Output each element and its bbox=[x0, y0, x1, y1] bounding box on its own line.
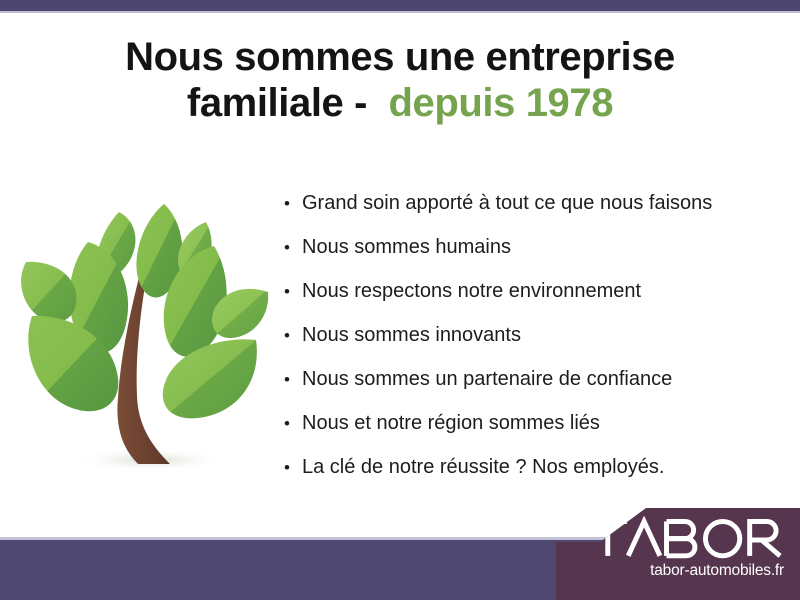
bullet-dot-icon: • bbox=[284, 327, 302, 344]
list-item: • Nous sommes un partenaire de confiance bbox=[284, 368, 784, 412]
bullet-list: • Grand soin apporté à tout ce que nous … bbox=[284, 192, 784, 500]
title-dash-glyph: - bbox=[354, 81, 367, 125]
bullet-dot-icon: • bbox=[284, 239, 302, 256]
title-line-2-lead: familiale bbox=[187, 81, 343, 125]
bullet-dot-icon: • bbox=[284, 195, 302, 212]
tree-leaves bbox=[21, 204, 268, 418]
bullet-text: Nous sommes humains bbox=[302, 236, 511, 259]
bullet-text: Nous sommes innovants bbox=[302, 324, 521, 347]
list-item: • Nous respectons notre environnement bbox=[284, 280, 784, 324]
title-line-1: Nous sommes une entreprise bbox=[0, 34, 800, 80]
logo-tagline: tabor-automobiles.fr bbox=[586, 562, 784, 580]
bullet-text: Nous sommes un partenaire de confiance bbox=[302, 368, 672, 391]
bullet-dot-icon: • bbox=[284, 283, 302, 300]
list-item: • La clé de notre réussite ? Nos employé… bbox=[284, 456, 784, 500]
list-item: • Grand soin apporté à tout ce que nous … bbox=[284, 192, 784, 236]
title-line-2: familiale - depuis 1978 bbox=[0, 80, 800, 126]
bullet-text: Nous respectons notre environnement bbox=[302, 280, 641, 303]
list-item: • Nous et notre région sommes liés bbox=[284, 412, 784, 456]
bullet-dot-icon: • bbox=[284, 415, 302, 432]
list-item: • Nous sommes innovants bbox=[284, 324, 784, 368]
slide-canvas: Nous sommes une entreprise familiale - d… bbox=[0, 0, 800, 600]
bullet-dot-icon: • bbox=[284, 371, 302, 388]
title-dash bbox=[343, 81, 354, 125]
top-accent-hairline bbox=[0, 11, 800, 13]
logo-inner: tabor-automobiles.fr bbox=[586, 516, 784, 580]
tabor-logo-wordmark bbox=[586, 516, 784, 560]
logo-panel: tabor-automobiles.fr bbox=[556, 508, 800, 600]
top-accent-band bbox=[0, 0, 800, 11]
leaf-far-left bbox=[21, 262, 76, 322]
bullet-text: Grand soin apporté à tout ce que nous fa… bbox=[302, 192, 712, 215]
bullet-text: Nous et notre région sommes liés bbox=[302, 412, 600, 435]
bullet-text: La clé de notre réussite ? Nos employés. bbox=[302, 456, 664, 479]
tree-illustration bbox=[18, 188, 274, 490]
page-title: Nous sommes une entreprise familiale - d… bbox=[0, 34, 800, 127]
list-item: • Nous sommes humains bbox=[284, 236, 784, 280]
bullet-dot-icon: • bbox=[284, 459, 302, 476]
title-accent-since: depuis 1978 bbox=[388, 81, 613, 125]
